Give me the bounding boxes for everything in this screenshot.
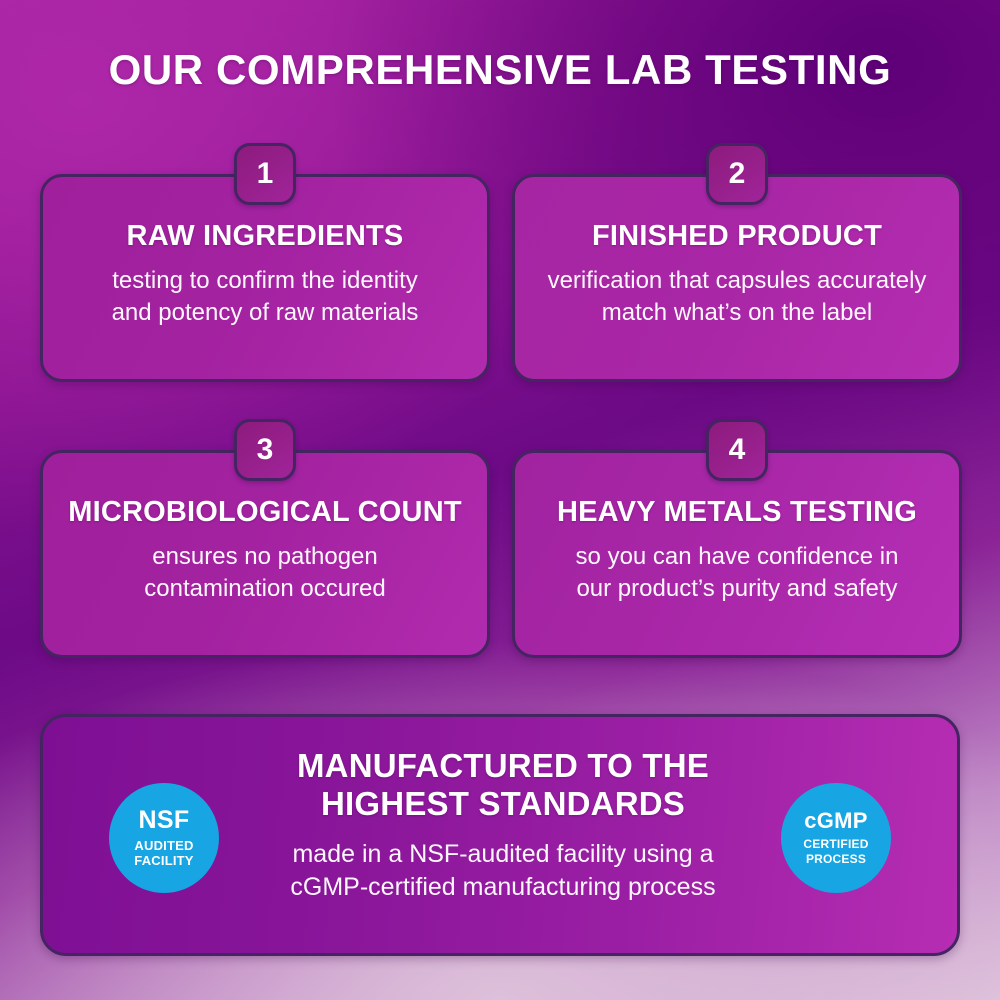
manufacturing-standards-banner: NSF AUDITED FACILITY MANUFACTURED TO THE… [40, 714, 960, 956]
card-4-body-line2: our product’s purity and safety [576, 573, 899, 605]
card-3-title: MICROBIOLOGICAL COUNT [68, 497, 462, 528]
card-3-content: MICROBIOLOGICAL COUNT ensures no pathoge… [43, 453, 487, 655]
nsf-seal-sub-line1: AUDITED [134, 838, 193, 853]
lab-test-card-4: 4 HEAVY METALS TESTING so you can have c… [512, 450, 962, 658]
card-4-title: HEAVY METALS TESTING [557, 497, 917, 528]
card-1-content: RAW INGREDIENTS testing to confirm the i… [43, 177, 487, 379]
banner-body: made in a NSF-audited facility using a c… [253, 838, 753, 905]
card-1-body-line1: testing to confirm the identity [112, 265, 419, 297]
card-3-body-line1: ensures no pathogen [144, 541, 385, 573]
card-1-title: RAW INGREDIENTS [127, 221, 404, 252]
banner-title-line2: HIGHEST STANDARDS [253, 785, 753, 823]
step-number-1: 1 [257, 157, 274, 191]
lab-test-card-3: 3 MICROBIOLOGICAL COUNT ensures no patho… [40, 450, 490, 658]
card-2-body-line1: verification that capsules accurately [548, 265, 927, 297]
step-number-badge-3: 3 [234, 419, 296, 481]
step-number-badge-2: 2 [706, 143, 768, 205]
card-3-body-line2: contamination occured [144, 573, 385, 605]
card-2-body: verification that capsules accurately ma… [548, 265, 927, 329]
lab-test-card-1: 1 RAW INGREDIENTS testing to confirm the… [40, 174, 490, 382]
banner-content: MANUFACTURED TO THE HIGHEST STANDARDS ma… [253, 747, 753, 905]
nsf-seal-main-text: NSF [139, 808, 190, 833]
banner-body-line2: cGMP-certified manufacturing process [253, 871, 753, 905]
infographic-poster: OUR COMPREHENSIVE LAB TESTING 1 RAW INGR… [0, 0, 1000, 1000]
card-4-content: HEAVY METALS TESTING so you can have con… [515, 453, 959, 655]
step-number-4: 4 [729, 433, 746, 467]
page-title: OUR COMPREHENSIVE LAB TESTING [0, 46, 1000, 94]
banner-title-line1: MANUFACTURED TO THE [253, 747, 753, 785]
nsf-seal-sub-line2: FACILITY [134, 853, 193, 868]
nsf-audited-facility-seal-icon: NSF AUDITED FACILITY [109, 783, 219, 893]
step-number-2: 2 [729, 157, 746, 191]
card-1-body-line2: and potency of raw materials [112, 297, 419, 329]
card-2-content: FINISHED PRODUCT verification that capsu… [515, 177, 959, 379]
step-number-badge-1: 1 [234, 143, 296, 205]
cgmp-seal-sub-line2: PROCESS [803, 852, 868, 866]
banner-body-line1: made in a NSF-audited facility using a [253, 838, 753, 872]
card-4-body: so you can have confidence in our produc… [576, 541, 899, 605]
banner-title: MANUFACTURED TO THE HIGHEST STANDARDS [253, 747, 753, 824]
cgmp-certified-process-seal-icon: cGMP CERTIFIED PROCESS [781, 783, 891, 893]
card-4-body-line1: so you can have confidence in [576, 541, 899, 573]
card-1-body: testing to confirm the identity and pote… [112, 265, 419, 329]
cgmp-seal-main-text: cGMP [804, 810, 868, 832]
nsf-seal-sub-text: AUDITED FACILITY [134, 838, 193, 869]
cgmp-seal-sub-text: CERTIFIED PROCESS [803, 837, 868, 865]
card-3-body: ensures no pathogen contamination occure… [144, 541, 385, 605]
card-2-body-line2: match what’s on the label [548, 297, 927, 329]
lab-test-card-2: 2 FINISHED PRODUCT verification that cap… [512, 174, 962, 382]
step-number-3: 3 [257, 433, 274, 467]
card-2-title: FINISHED PRODUCT [592, 221, 882, 252]
cgmp-seal-sub-line1: CERTIFIED [803, 837, 868, 851]
step-number-badge-4: 4 [706, 419, 768, 481]
